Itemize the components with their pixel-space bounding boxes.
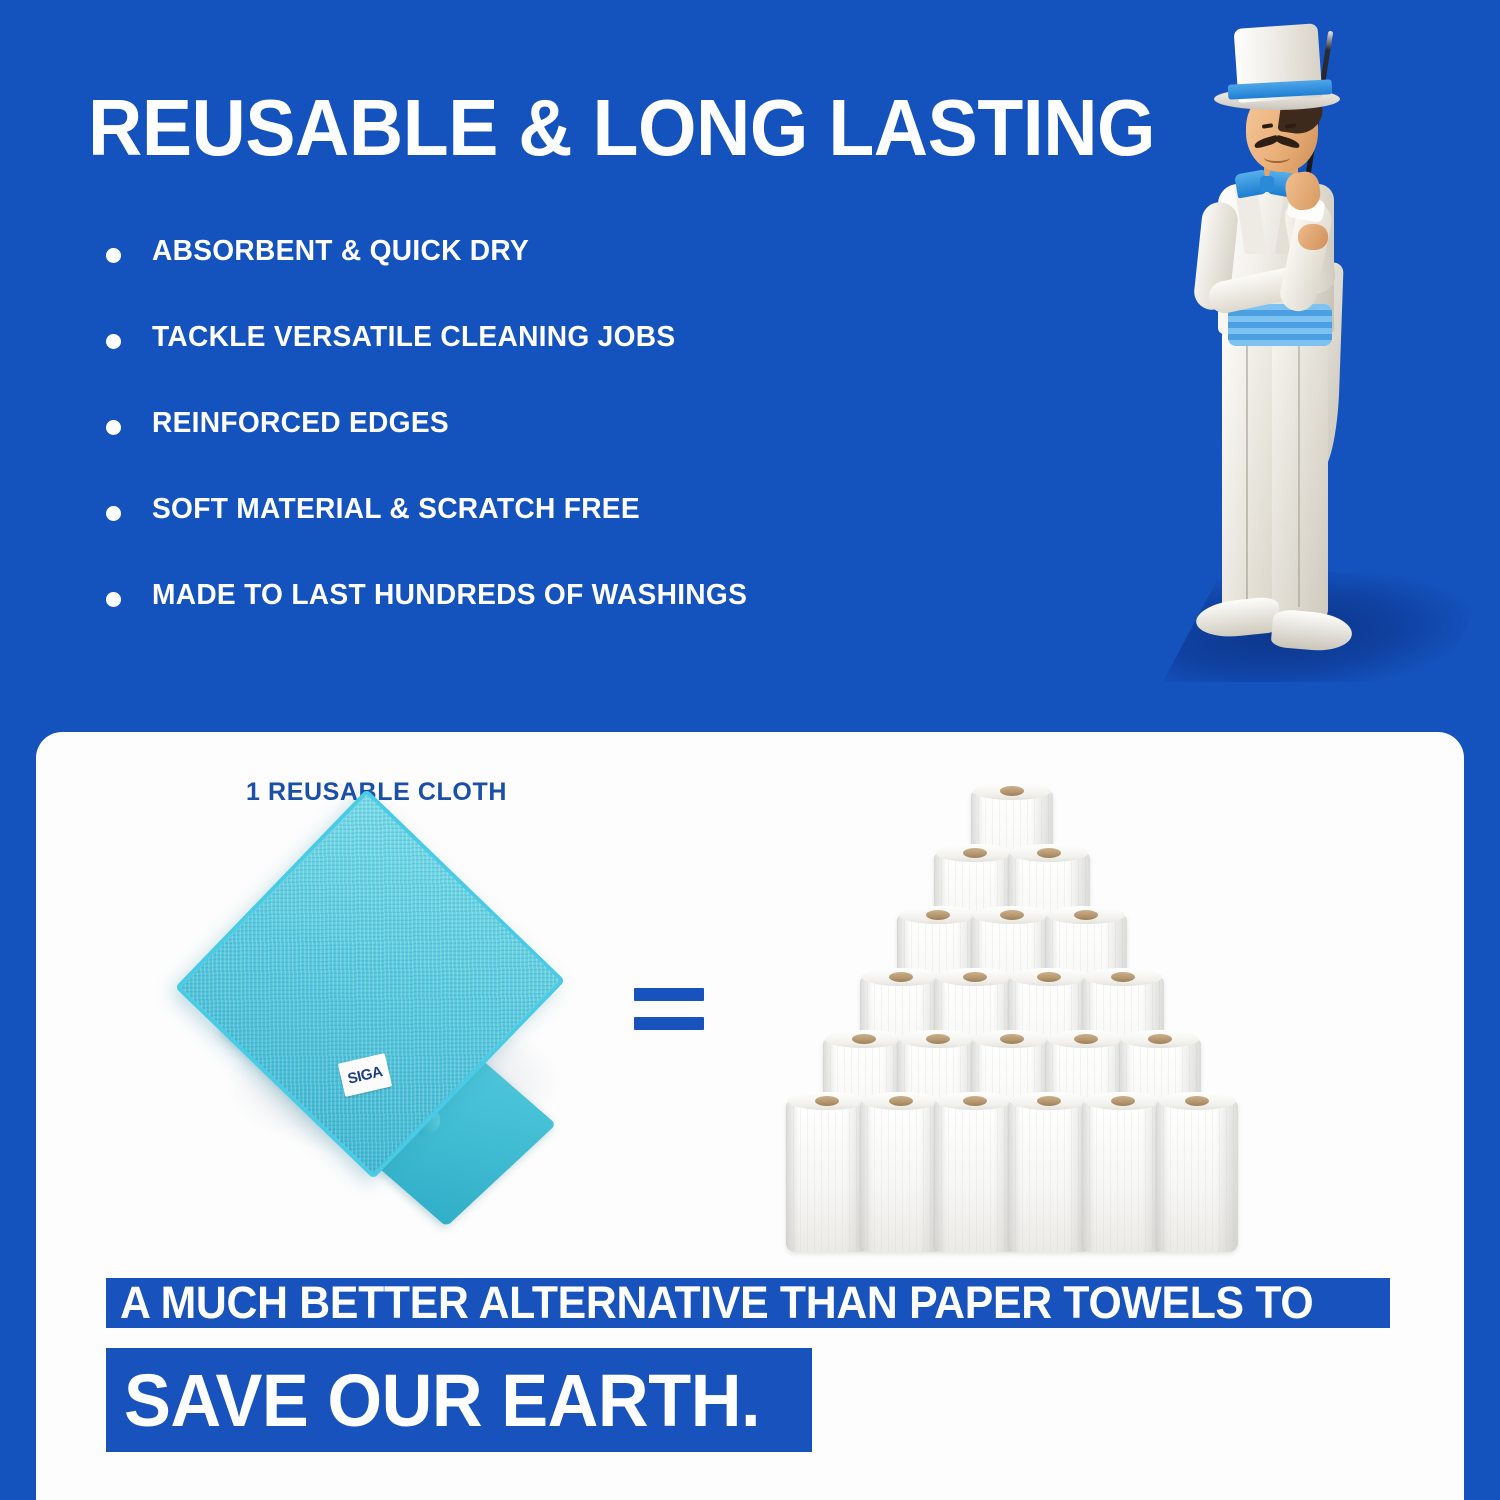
banner-line-2-text: SAVE OUR EARTH. [124, 1358, 760, 1443]
list-item: TACKLE VERSATILE CLEANING JOBS [100, 308, 900, 394]
trouser-crease [1246, 342, 1248, 602]
banner-line-1-text: A MUCH BETTER ALTERNATIVE THAN PAPER TOW… [120, 1277, 1313, 1329]
paper-towel-roll [934, 1100, 1016, 1252]
bullet-dot-icon [106, 420, 121, 435]
blue-cummerbund [1228, 304, 1332, 346]
page-title: REUSABLE & LONG LASTING [88, 88, 1155, 168]
paper-towel-roll [1082, 1100, 1164, 1252]
feature-label: TACKLE VERSATILE CLEANING JOBS [152, 321, 675, 354]
left-leg [1222, 328, 1276, 614]
feature-label: REINFORCED EDGES [152, 407, 449, 440]
bullet-dot-icon [106, 334, 121, 349]
feature-label: MADE TO LAST HUNDREDS OF WASHINGS [152, 579, 747, 612]
equals-sign-icon [634, 988, 704, 1034]
mascot-illustration [1140, 12, 1470, 702]
trouser-crease [1298, 342, 1300, 607]
equals-bar-bottom [634, 1017, 704, 1030]
paper-towel-pyramid [752, 790, 1272, 1240]
paper-towel-roll [1008, 1100, 1090, 1252]
list-item: REINFORCED EDGES [100, 394, 900, 480]
microfiber-cloth-image: SIGA [210, 830, 600, 1190]
bullet-dot-icon [106, 506, 121, 521]
paper-towel-roll [860, 1100, 942, 1252]
brand-tag-label: SIGA [346, 1063, 384, 1087]
feature-list: ABSORBENT & QUICK DRY TACKLE VERSATILE C… [100, 222, 900, 652]
paper-towel-roll [786, 1100, 868, 1252]
paper-towel-roll [1156, 1100, 1238, 1252]
bullet-dot-icon [106, 248, 121, 263]
smile [1264, 152, 1290, 163]
list-item: MADE TO LAST HUNDREDS OF WASHINGS [100, 566, 900, 652]
list-item: ABSORBENT & QUICK DRY [100, 222, 900, 308]
feature-label: ABSORBENT & QUICK DRY [152, 235, 529, 268]
bow-tie-knot [1260, 176, 1274, 192]
bullet-dot-icon [106, 592, 121, 607]
left-hand [1298, 224, 1328, 250]
list-item: SOFT MATERIAL & SCRATCH FREE [100, 480, 900, 566]
feature-label: SOFT MATERIAL & SCRATCH FREE [152, 493, 640, 526]
product-infographic: REUSABLE & LONG LASTING ABSORBENT & QUIC… [0, 0, 1500, 1500]
paper-towel-row [752, 1100, 1272, 1252]
right-leg [1272, 328, 1328, 620]
banner-line-1: A MUCH BETTER ALTERNATIVE THAN PAPER TOW… [106, 1278, 1390, 1328]
equals-bar-top [634, 988, 704, 1001]
banner-line-2: SAVE OUR EARTH. [106, 1348, 812, 1452]
